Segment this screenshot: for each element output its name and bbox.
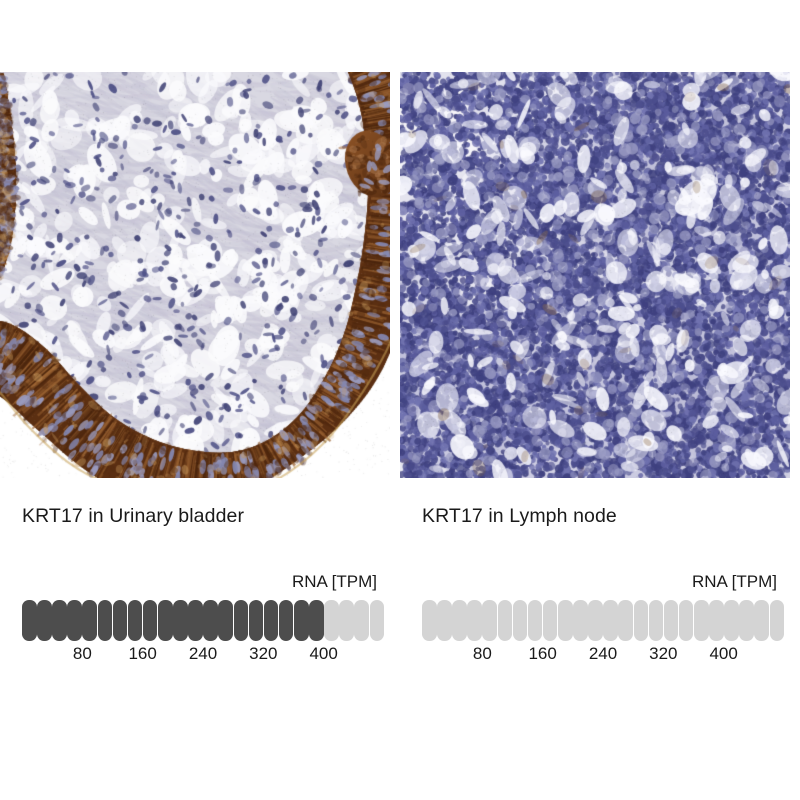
rna-bar-segment bbox=[709, 600, 724, 641]
rna-bar-segment bbox=[188, 600, 203, 641]
rna-bar-segment bbox=[694, 600, 709, 641]
rna-axis-ticks: 80160240320400 bbox=[422, 644, 784, 666]
rna-axis-tick-label: 80 bbox=[473, 644, 492, 664]
rna-bar-segment bbox=[37, 600, 52, 641]
rna-bar-segment bbox=[67, 600, 82, 641]
rna-bar-segment bbox=[543, 600, 558, 641]
rna-axis-tick-label: 320 bbox=[249, 644, 277, 664]
rna-axis-tick-label: 160 bbox=[528, 644, 556, 664]
rna-axis-title: RNA [TPM] bbox=[292, 572, 377, 592]
rna-bar-segment bbox=[618, 600, 633, 641]
rna-axis-tick-label: 400 bbox=[309, 644, 337, 664]
rna-bar-segment bbox=[437, 600, 452, 641]
rna-bar-segment bbox=[339, 600, 354, 641]
rna-bar-segment bbox=[264, 600, 279, 641]
rna-bar-segment bbox=[498, 600, 513, 641]
rna-axis-tick-label: 80 bbox=[73, 644, 92, 664]
rna-bar-segment bbox=[279, 600, 294, 641]
rna-bar-segment bbox=[724, 600, 739, 641]
rna-bar-segment bbox=[467, 600, 482, 641]
rna-bar-segment bbox=[354, 600, 369, 641]
micrograph-canvas-urinary-bladder bbox=[0, 72, 390, 478]
rna-bar-segment bbox=[158, 600, 173, 641]
page-root: KRT17 in Urinary bladder RNA [TPM] 80160… bbox=[0, 0, 800, 800]
panel-caption-lymph-node: KRT17 in Lymph node bbox=[422, 505, 617, 528]
rna-bar-segment bbox=[513, 600, 528, 641]
panel-urinary-bladder: KRT17 in Urinary bladder RNA [TPM] 80160… bbox=[0, 0, 400, 800]
micrograph-canvas-lymph-node bbox=[400, 72, 790, 478]
rna-bar-track bbox=[422, 600, 784, 641]
rna-bar-segment bbox=[452, 600, 467, 641]
panel-lymph-node: KRT17 in Lymph node RNA [TPM] 8016024032… bbox=[400, 0, 800, 800]
rna-bar-segment bbox=[588, 600, 603, 641]
rna-bar-segment bbox=[203, 600, 218, 641]
rna-bar-segment bbox=[482, 600, 497, 641]
rna-bar-segment bbox=[573, 600, 588, 641]
micrograph-urinary-bladder bbox=[0, 72, 390, 478]
rna-bar-segment bbox=[143, 600, 158, 641]
rna-axis-tick-label: 240 bbox=[589, 644, 617, 664]
rna-axis-title: RNA [TPM] bbox=[692, 572, 777, 592]
rna-bar-segment bbox=[98, 600, 113, 641]
rna-bar-segment bbox=[603, 600, 618, 641]
rna-bar-segment bbox=[528, 600, 543, 641]
rna-bar-segment bbox=[218, 600, 233, 641]
rna-bar-segment bbox=[52, 600, 67, 641]
rna-bar-segment bbox=[173, 600, 188, 641]
micrograph-lymph-node bbox=[400, 72, 790, 478]
rna-bar-segment bbox=[22, 600, 37, 641]
rna-axis-tick-label: 160 bbox=[128, 644, 156, 664]
rna-axis-ticks: 80160240320400 bbox=[22, 644, 384, 666]
rna-bar-segment bbox=[309, 600, 324, 641]
rna-bar-segment bbox=[422, 600, 437, 641]
rna-bar-segment bbox=[294, 600, 309, 641]
rna-bar-segment bbox=[249, 600, 264, 641]
rna-bar-segment bbox=[113, 600, 128, 641]
rna-bar-segment bbox=[558, 600, 573, 641]
rna-bar-segment bbox=[739, 600, 754, 641]
rna-axis-tick-label: 400 bbox=[709, 644, 737, 664]
rna-bar-segment bbox=[82, 600, 97, 641]
rna-bar-segment bbox=[664, 600, 679, 641]
rna-bar-segment bbox=[128, 600, 143, 641]
rna-bar-segment bbox=[634, 600, 649, 641]
rna-bar-segment bbox=[649, 600, 664, 641]
rna-bar-track bbox=[22, 600, 384, 641]
panel-caption-urinary-bladder: KRT17 in Urinary bladder bbox=[22, 505, 244, 528]
rna-bar-segment bbox=[324, 600, 339, 641]
rna-axis-tick-label: 240 bbox=[189, 644, 217, 664]
rna-bar-segment bbox=[770, 600, 785, 641]
rna-bar-segment bbox=[754, 600, 769, 641]
rna-bar-segment bbox=[234, 600, 249, 641]
rna-axis-tick-label: 320 bbox=[649, 644, 677, 664]
rna-bar-segment bbox=[370, 600, 385, 641]
rna-bar-segment bbox=[679, 600, 694, 641]
